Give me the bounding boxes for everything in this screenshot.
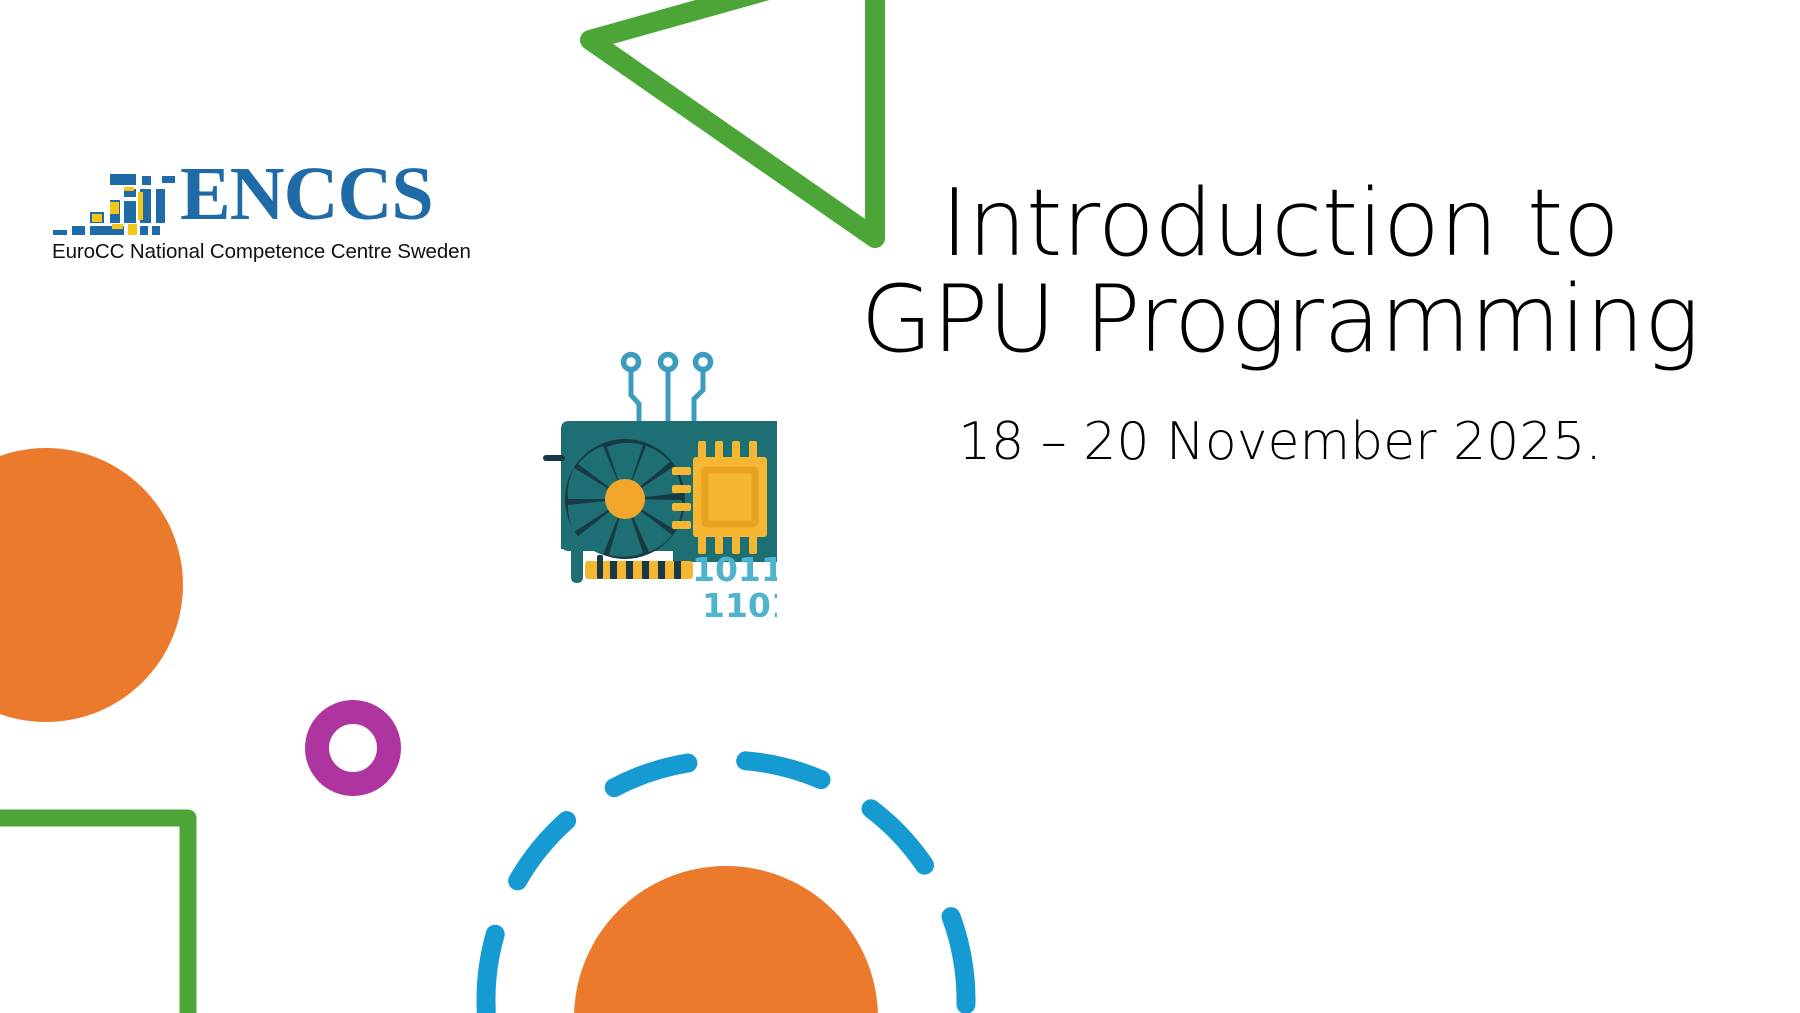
gpu-binary-text-line1: 10110 bbox=[692, 550, 777, 589]
gpu-side-connector bbox=[543, 455, 565, 461]
slide-subtitle: 18 – 20 November 2025. bbox=[800, 368, 1760, 471]
presentation-slide: ENCCS EuroCC National Competence Centre … bbox=[0, 0, 1800, 1013]
gpu-graphics-card-illustration: 10110 1101 bbox=[447, 287, 777, 617]
orange-circle-bottom-icon bbox=[574, 866, 878, 1013]
gpu-binary-text-line2: 1101 bbox=[702, 586, 777, 617]
gpu-fan-hub bbox=[605, 479, 645, 519]
enccs-logo-tagline: EuroCC National Competence Centre Sweden bbox=[52, 240, 471, 264]
enccs-logo-mark-icon bbox=[52, 168, 180, 238]
blue-dashed-arc-icon bbox=[455, 729, 997, 1013]
enccs-logo-wordmark: ENCCS bbox=[180, 156, 433, 232]
page-title: Introduction to GPU Programming bbox=[800, 176, 1760, 368]
green-corner-line-icon bbox=[0, 818, 188, 1013]
orange-circle-left-icon bbox=[0, 448, 183, 722]
page-title-line-1: Introduction to bbox=[800, 176, 1760, 272]
title-block: Introduction to GPU Programming 18 – 20 … bbox=[800, 176, 1760, 471]
purple-ring-icon bbox=[317, 712, 389, 784]
enccs-logo: ENCCS EuroCC National Competence Centre … bbox=[52, 168, 452, 268]
page-title-line-2: GPU Programming bbox=[800, 272, 1760, 368]
